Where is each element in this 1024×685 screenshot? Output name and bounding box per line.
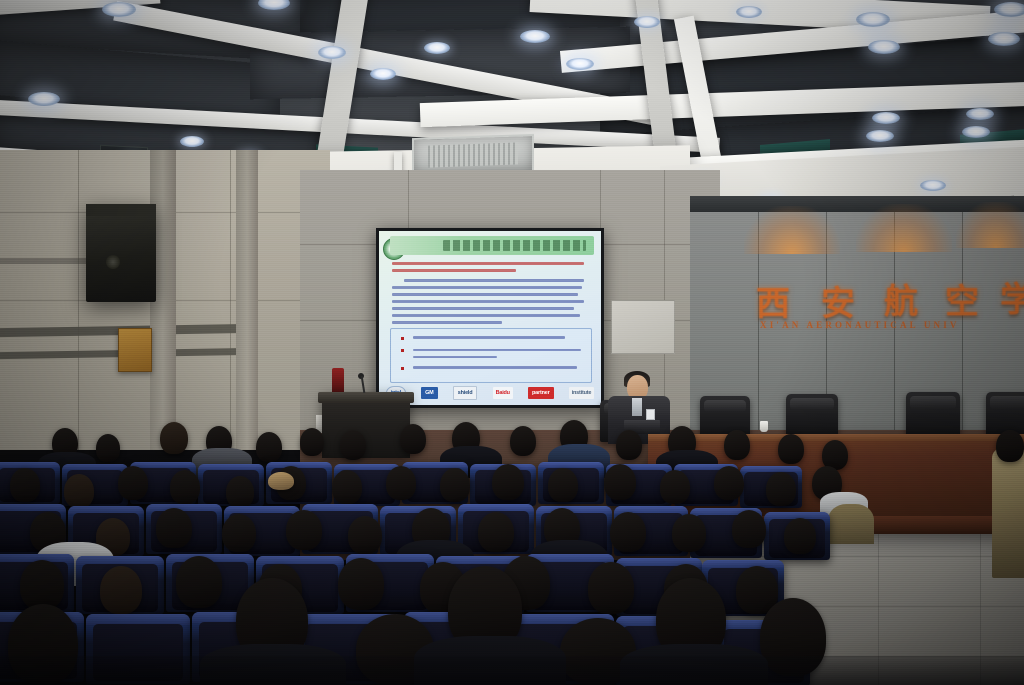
audience-head bbox=[510, 426, 536, 456]
wall-wash-light bbox=[956, 202, 1024, 248]
audience-head bbox=[338, 558, 384, 610]
audience-head bbox=[222, 514, 256, 552]
audience-head bbox=[478, 512, 514, 552]
signage-hanzi-3: 航 bbox=[884, 274, 918, 323]
audience-head bbox=[778, 434, 804, 464]
audience-head bbox=[588, 562, 634, 614]
audience-head bbox=[440, 468, 470, 502]
sponsor-logo-baidu: Baidu bbox=[493, 387, 513, 399]
audience-head bbox=[118, 466, 148, 500]
audience-head bbox=[332, 470, 362, 504]
wall-pilaster bbox=[236, 150, 258, 450]
wall-wash-light bbox=[744, 206, 840, 254]
downlight-icon bbox=[872, 112, 900, 124]
downlight-icon bbox=[520, 30, 550, 43]
audience-head bbox=[400, 424, 426, 454]
downlight-icon bbox=[988, 32, 1020, 46]
projection-screen: intel GM shield Baidu partner institute bbox=[376, 228, 604, 408]
downlight-icon bbox=[962, 126, 990, 138]
downlight-icon bbox=[102, 2, 136, 17]
downlight-icon bbox=[994, 2, 1024, 17]
audience-head bbox=[492, 464, 524, 500]
audience-head bbox=[766, 472, 796, 506]
audience-shoulders bbox=[828, 504, 874, 544]
audience-head bbox=[660, 470, 690, 504]
standing-attendee-head bbox=[996, 430, 1024, 462]
audience-head bbox=[348, 516, 382, 554]
audience-head bbox=[724, 430, 750, 460]
downlight-icon bbox=[566, 58, 594, 70]
downlight-icon bbox=[736, 6, 762, 18]
audience-head bbox=[386, 466, 416, 500]
audience-head bbox=[604, 464, 636, 500]
signage-hanzi-2: 安 bbox=[821, 276, 855, 325]
lecture-hall-photo: 西 安 航 空 学 XI'AN AERONAUTICAL UNIV bbox=[0, 0, 1024, 685]
audience-head bbox=[156, 508, 192, 548]
slide-callout-box bbox=[390, 328, 592, 382]
audience-head bbox=[286, 510, 322, 550]
audience-head bbox=[714, 466, 744, 500]
audience-head bbox=[268, 472, 294, 490]
audience-head bbox=[160, 422, 188, 454]
downlight-icon bbox=[180, 136, 204, 147]
whiteboard bbox=[611, 300, 675, 354]
downlight-icon bbox=[318, 46, 346, 59]
downlight-icon bbox=[868, 40, 900, 54]
downlight-icon bbox=[370, 68, 396, 80]
audience-head bbox=[10, 468, 40, 502]
audience-area bbox=[0, 408, 1024, 685]
presentation-slide: intel GM shield Baidu partner institute bbox=[379, 231, 601, 405]
signage-english-line: XI'AN AERONAUTICAL UNIV bbox=[760, 320, 1024, 330]
wall-plaque bbox=[118, 328, 152, 372]
wall-wash-light bbox=[856, 204, 952, 252]
audience-head bbox=[176, 556, 222, 608]
signage-hanzi-5: 学 bbox=[1000, 272, 1024, 321]
audience-head bbox=[20, 560, 64, 610]
sponsor-logo-partner: partner bbox=[528, 387, 554, 399]
audience-head bbox=[96, 434, 120, 462]
signage-hanzi-4: 空 bbox=[945, 274, 979, 323]
audience-head bbox=[226, 476, 254, 508]
sponsor-logo-shield: shield bbox=[453, 386, 478, 400]
audience-head bbox=[616, 430, 642, 460]
audience-head bbox=[784, 518, 816, 554]
downlight-icon bbox=[920, 180, 946, 191]
audience-head bbox=[256, 432, 282, 462]
audience-head bbox=[732, 510, 766, 548]
standing-attendee bbox=[992, 448, 1024, 578]
slide-header-bar bbox=[390, 236, 594, 255]
audience-head bbox=[672, 514, 706, 552]
downlight-icon bbox=[28, 92, 60, 106]
stage-object-red bbox=[332, 368, 344, 394]
signage-hanzi-1: 西 bbox=[756, 276, 790, 325]
sponsor-logo-institute: institute bbox=[569, 387, 595, 399]
audience-head bbox=[64, 474, 94, 508]
slide-sponsor-logos: intel GM shield Baidu partner institute bbox=[386, 385, 595, 401]
downlight-icon bbox=[856, 12, 890, 27]
sponsor-logo-gm: GM bbox=[421, 387, 437, 399]
audience-head bbox=[548, 468, 578, 502]
audience-head bbox=[340, 430, 366, 460]
left-wall bbox=[0, 150, 330, 450]
downlight-icon bbox=[966, 108, 994, 120]
audience-head bbox=[170, 470, 200, 504]
audience-head bbox=[300, 428, 324, 456]
audience-head bbox=[610, 512, 646, 552]
downlight-icon bbox=[424, 42, 450, 54]
pa-speaker-icon bbox=[86, 204, 156, 302]
audience-head bbox=[100, 566, 142, 614]
downlight-icon bbox=[866, 130, 894, 142]
downlight-icon bbox=[634, 16, 660, 28]
